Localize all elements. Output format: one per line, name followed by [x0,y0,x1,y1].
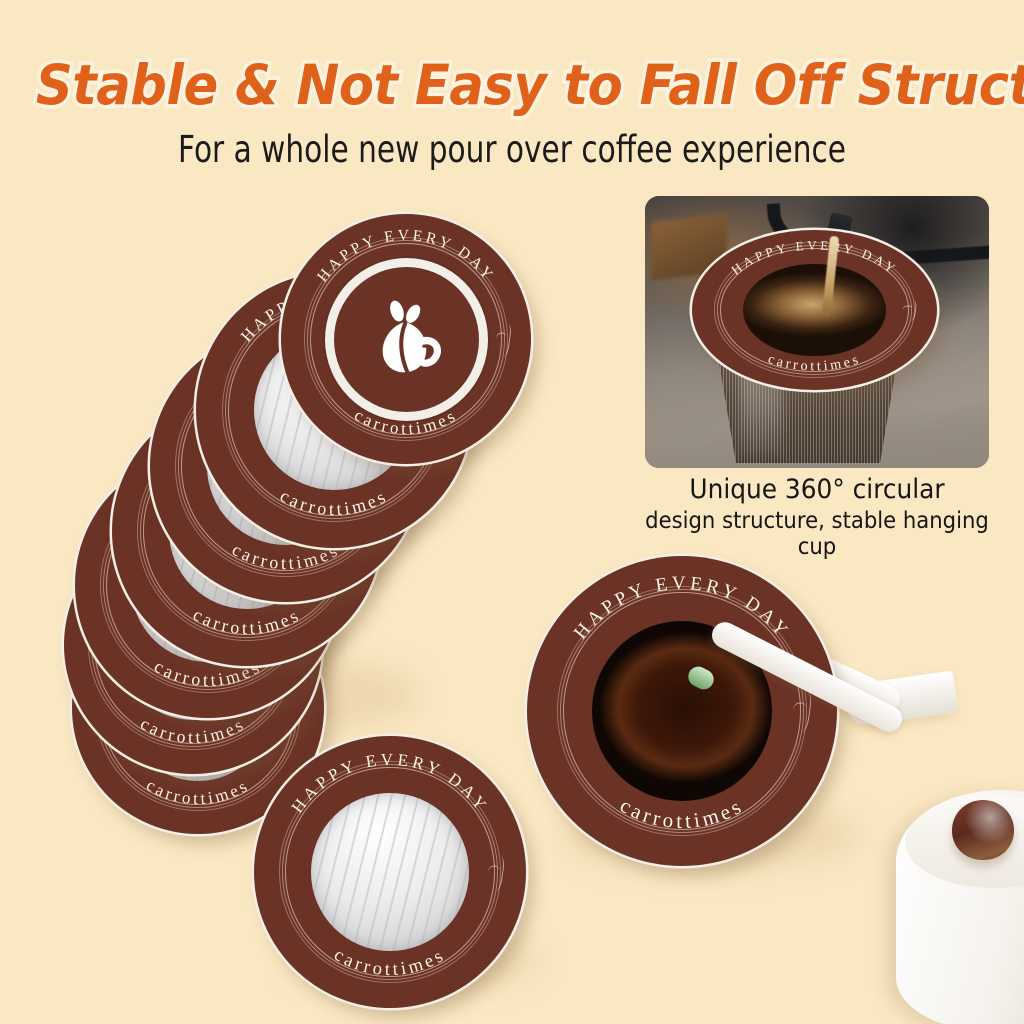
disc-brand: carrottimes [137,713,249,747]
disc-arc-text: HAPPY EVERY DAY carrottimes [692,230,937,390]
disc-in-photo: HAPPY EVERY DAY carrottimes [692,230,937,390]
photo-caption: Unique 360° circular design structure, s… [620,474,1014,560]
disc-brand: carrottimes [190,604,304,638]
marketing-image-canvas: Stable & Not Easy to Fall Off Structure … [0,0,1024,1024]
svg-text:carrottimes: carrottimes [143,775,253,808]
disc-brand: carrottimes [143,775,253,808]
disc-tagline: HAPPY EVERY DAY [728,238,900,278]
svg-text:HAPPY EVERY DAY: HAPPY EVERY DAY [288,750,493,817]
svg-text:carrottimes: carrottimes [277,485,391,519]
svg-text:HAPPY EVERY DAY: HAPPY EVERY DAY [314,227,498,285]
svg-text:HAPPY EVERY DAY: HAPPY EVERY DAY [570,573,794,643]
disc-with-paper-filter: HAPPY EVERY DAY carrottimes [254,736,526,1008]
stack-disc-1-front: HAPPY EVERY DAY carrottimes [281,214,531,464]
disc-tagline: HAPPY EVERY DAY [570,573,794,643]
disc-brand: carrottimes [766,352,863,374]
disc-arc-text: HAPPY EVERY DAY carrottimes [254,736,526,1008]
svg-text:carrottimes: carrottimes [190,604,304,638]
disc-brand: carrottimes [351,405,461,438]
svg-text:carrottimes: carrottimes [137,713,249,747]
disc-arc-text: HAPPY EVERY DAY carrottimes [527,556,837,866]
svg-text:HAPPY EVERY DAY: HAPPY EVERY DAY [728,238,900,278]
svg-text:carrottimes: carrottimes [330,945,449,980]
page-subtitle: For a whole new pour over coffee experie… [102,128,921,171]
disc-tagline: HAPPY EVERY DAY [288,750,493,817]
caption-line-2: design structure, stable hanging cup [636,508,998,560]
disc-brand: carrottimes [277,485,391,519]
svg-text:carrottimes: carrottimes [766,352,863,374]
disc-brand: carrottimes [616,793,748,833]
disc-tagline: HAPPY EVERY DAY [314,227,498,285]
caption-line-1: Unique 360° circular [636,474,998,505]
disc-brand: carrottimes [330,945,449,980]
page-headline: Stable & Not Easy to Fall Off Structure [36,57,988,115]
svg-text:carrottimes: carrottimes [351,405,461,438]
disc-arc-text: HAPPY EVERY DAY carrottimes [281,214,531,464]
svg-text:carrottimes: carrottimes [616,793,748,833]
disc-with-brewed-coffee: HAPPY EVERY DAY carrottimes [527,556,837,866]
coffee-bean-candy [952,800,1014,860]
pouring-coffee-photo: HAPPY EVERY DAY carrottimes [645,196,989,468]
